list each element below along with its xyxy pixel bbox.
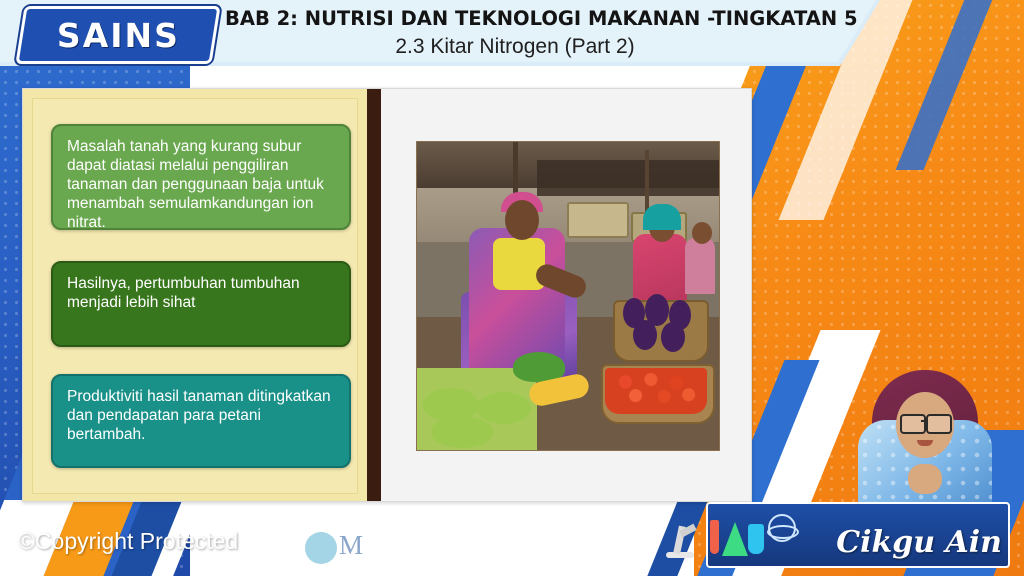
photo-vendor-face: [505, 200, 539, 240]
flask-icon: [722, 522, 748, 556]
watermark-circle-icon: [305, 532, 337, 564]
slide-right-panel: [381, 89, 751, 501]
photo-brinjal-5: [661, 322, 685, 352]
slide-card: Masalah tanah yang kurang subur dapat di…: [22, 88, 752, 502]
beaker-icon: [748, 524, 764, 554]
content-box-3: Produktiviti hasil tanaman ditingkatkan …: [51, 374, 351, 468]
photo-tomatoes: [605, 368, 707, 414]
photo-child-body: [685, 238, 715, 294]
photo-awning-2: [537, 160, 719, 196]
science-icons-group: [704, 498, 796, 560]
sains-logo-text: SAINS: [57, 16, 180, 55]
atom-icon: [768, 514, 796, 542]
content-box-2: Hasilnya, pertumbuhan tumbuhan menjadi l…: [51, 261, 351, 347]
test-tube-icon: [710, 520, 719, 554]
presenter-glasses-left: [900, 414, 926, 434]
presenter-glasses-right: [926, 414, 952, 434]
copyright-text: ©Copyright Protected: [18, 528, 238, 555]
photo-brinjal-4: [633, 320, 657, 350]
photo-child-face: [692, 222, 712, 244]
presenter-glasses-bridge: [921, 420, 928, 422]
presenter-name: Cikgu Ain: [802, 525, 1002, 560]
watermark-letter: M: [339, 530, 363, 561]
photo-woman-right-scarf: [643, 204, 681, 230]
slide-divider-bar: [367, 89, 381, 501]
photo-gourd-2: [431, 416, 493, 448]
watermark: M: [305, 528, 391, 566]
photo-vendor-blouse: [493, 238, 545, 290]
slide-stage: SAINS BAB 2: NUTRISI DAN TEKNOLOGI MAKAN…: [0, 0, 1024, 576]
content-box-1: Masalah tanah yang kurang subur dapat di…: [51, 124, 351, 230]
microscope-icon: [662, 518, 698, 558]
page-subtitle: 2.3 Kitar Nitrogen (Part 2): [225, 35, 805, 59]
photo-crate-1: [567, 202, 629, 238]
sains-logo-badge: SAINS: [15, 6, 220, 64]
page-title: BAB 2: NUTRISI DAN TEKNOLOGI MAKANAN -TI…: [225, 7, 825, 30]
photo-gourd-3: [477, 392, 531, 424]
market-photo: [416, 141, 720, 451]
presenter-photo: [850, 358, 1000, 508]
presenter-hands: [908, 464, 942, 494]
